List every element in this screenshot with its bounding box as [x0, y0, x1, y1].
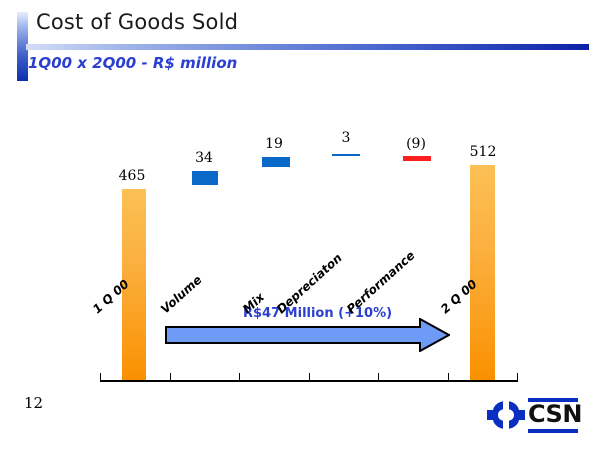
bar-performance: [403, 156, 431, 161]
value-label-volume: 34: [176, 150, 232, 166]
bar-2q00: [470, 165, 495, 380]
growth-annotation-label: R$47 Million (+10%): [243, 306, 392, 321]
value-label-1q00: 465: [104, 168, 160, 184]
value-label-mix: 19: [246, 136, 302, 152]
bar-volume: [192, 171, 218, 185]
title-divider: [26, 44, 589, 50]
waterfall-chart: 465 34 19 3 (9) 512 R$47 Million (+10%) …: [0, 90, 600, 390]
bar-mix: [262, 157, 290, 167]
growth-arrow: [165, 318, 450, 352]
csn-emblem-icon: [486, 400, 526, 430]
value-label-2q00: 512: [455, 144, 511, 160]
axis-tick: [378, 373, 379, 382]
axis-tick: [100, 373, 101, 382]
value-label-performance: (9): [388, 136, 444, 152]
page-title: Cost of Goods Sold: [36, 10, 238, 34]
axis-tick: [517, 373, 518, 382]
slide-header: Cost of Goods Sold 1Q00 x 2Q00 - R$ mill…: [0, 0, 600, 90]
bar-depreciaton: [332, 154, 360, 156]
value-label-depreciaton: 3: [318, 130, 374, 146]
axis-tick: [239, 373, 240, 382]
axis-tick: [170, 373, 171, 382]
logo-rule-bottom: [528, 429, 578, 433]
csn-logo: CSN: [486, 396, 578, 434]
axis-label-volume: Volume: [158, 273, 205, 317]
page-number: 12: [24, 394, 43, 412]
page-subtitle: 1Q00 x 2Q00 - R$ million: [28, 54, 237, 72]
axis-tick: [448, 373, 449, 382]
axis-tick: [309, 373, 310, 382]
csn-wordmark: CSN: [528, 401, 582, 428]
